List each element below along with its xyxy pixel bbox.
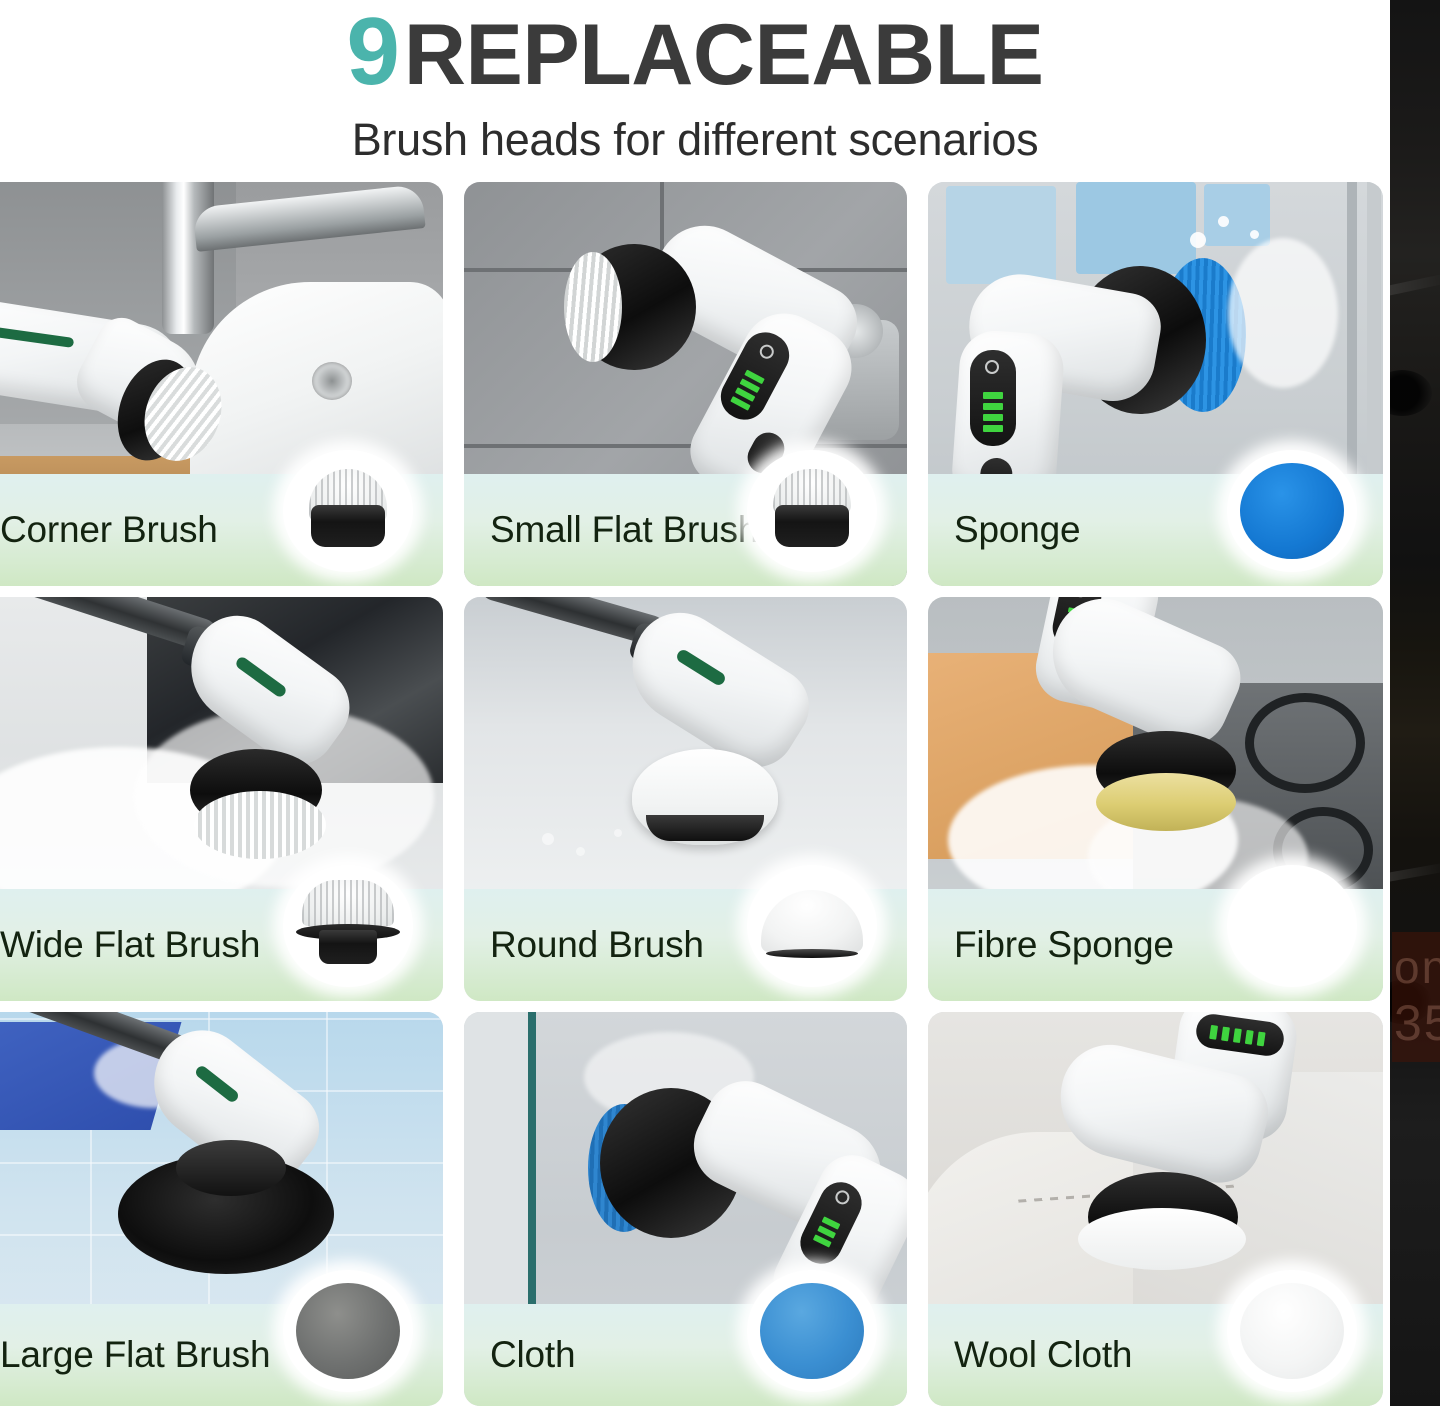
ghost-blob-upper [1390,370,1432,416]
accessory-thumb-small-flat-brush[interactable] [747,450,877,572]
water-droplet [614,829,622,837]
blue-sponge-disc-icon [1240,463,1344,559]
small-flat-brush-head-icon [756,461,868,561]
power-button-icon [833,1188,852,1207]
power-button-icon [757,342,776,361]
card-round-brush[interactable]: Round Brush [464,597,907,1001]
faint-overlay-banner: on 35 [1392,932,1440,1062]
headline-word: REPLACEABLE [404,12,1044,98]
header: 9 REPLACEABLE Brush heads for different … [0,0,1390,178]
card-cloth[interactable]: Cloth [464,1012,907,1406]
sink-drain [312,362,352,400]
accessory-thumb-fibre-sponge[interactable] [1227,865,1357,987]
foam-splash [1228,238,1338,388]
wall-panel [1076,182,1196,274]
device-led-panel [970,350,1016,446]
card-label-fibre-sponge: Fibre Sponge [928,924,1174,966]
card-wool-cloth[interactable]: Wool Cloth [928,1012,1383,1406]
card-corner-brush[interactable]: Corner Brush [0,182,443,586]
card-wide-flat-brush[interactable]: Wide Flat Brush [0,597,443,1001]
accessory-thumb-sponge[interactable] [1227,450,1357,572]
card-label-small-flat-brush: Small Flat Brush [464,509,758,551]
wall-panel [1204,184,1270,246]
grey-pad-disc-icon [296,1283,400,1379]
bubble [1250,230,1259,239]
dark-green-fibre-disc-icon [1240,878,1344,974]
card-large-flat-brush[interactable]: Large Flat Brush [0,1012,443,1406]
accessory-thumb-cloth[interactable] [747,1270,877,1392]
accessory-thumb-wide-flat-brush[interactable] [283,865,413,987]
wide-flat-brush-bristles [194,791,326,859]
card-label-corner-brush: Corner Brush [0,509,218,551]
card-label-wool-cloth: Wool Cloth [928,1334,1132,1376]
card-small-flat-brush[interactable]: Small Flat Brush [464,182,907,586]
round-brush-head-icon [756,876,868,976]
power-button-icon [1072,597,1089,599]
water-droplet [576,847,585,856]
tile-grout-line [464,444,907,448]
brush-mount-ring [646,815,764,841]
stove-burner-grate [1245,693,1365,793]
card-label-wide-flat-brush: Wide Flat Brush [0,924,260,966]
wall-panel [946,186,1056,284]
headline-count: 9 [347,4,398,100]
overlay-ghost-text-line1: on [1394,944,1440,990]
card-fibre-sponge[interactable]: Fibre Sponge [928,597,1383,1001]
small-flat-brush-bristles [564,252,622,362]
ghost-sheen-lower [1390,862,1440,883]
faucet-column [162,182,214,334]
card-label-cloth: Cloth [464,1334,575,1376]
title-line: 9 REPLACEABLE [0,4,1390,100]
accessory-thumb-large-flat-brush[interactable] [283,1270,413,1392]
product-infographic-page: on 35 9 REPLACEABLE Brush heads for diff… [0,0,1440,1406]
accessory-thumb-wool-cloth[interactable] [1227,1270,1357,1392]
scenario-grid: Corner Brush [0,182,1390,1406]
bubble [1218,216,1229,227]
bubble [1190,232,1206,248]
overlay-ghost-text-line2: 35 [1394,998,1440,1048]
water-droplet [542,833,554,845]
fibre-sponge-attachment [1096,773,1236,831]
wool-cloth-attachment [1078,1208,1246,1270]
subtitle: Brush heads for different scenarios [0,114,1390,166]
brush-mount-ring [176,1140,286,1196]
wide-flat-brush-head-icon [292,876,404,976]
corner-brush-head-icon [292,461,404,561]
blue-microfiber-disc-icon [760,1283,864,1379]
content-panel: 9 REPLACEABLE Brush heads for different … [0,0,1390,1406]
card-sponge[interactable]: Sponge [928,182,1383,586]
ghost-sheen-upper [1390,273,1440,297]
dark-background-strip [1390,0,1440,1406]
accessory-thumb-round-brush[interactable] [747,865,877,987]
white-wool-disc-icon [1240,1283,1344,1379]
accessory-thumb-corner-brush[interactable] [283,450,413,572]
power-button-icon [985,360,999,374]
card-label-sponge: Sponge [928,509,1080,551]
card-label-large-flat-brush: Large Flat Brush [0,1334,270,1376]
card-label-round-brush: Round Brush [464,924,704,966]
